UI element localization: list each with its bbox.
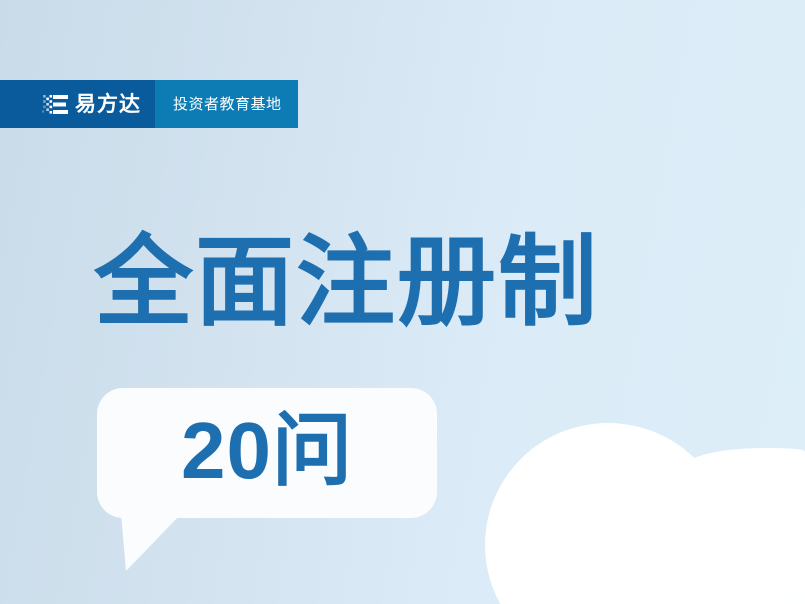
brand-header-bar: 易方达 投资者教育基地 [0,80,298,128]
poster-canvas: 易方达 投资者教育基地 全面注册制 20问 [0,0,805,604]
page-title: 全面注册制 [94,228,599,337]
speech-bubble-body: 20问 [97,388,437,518]
speech-bubble-tail [119,514,183,574]
speech-bubble: 20问 [97,388,437,518]
parachute-icon [653,448,805,604]
speech-bubble-label: 20问 [181,411,353,491]
parachute-icon [485,423,731,604]
brand-subtitle-block[interactable]: 投资者教育基地 [155,80,298,128]
yifangda-pixel-e-icon [42,94,68,115]
brand-logo-block[interactable]: 易方达 [0,80,155,128]
brand-subtitle: 投资者教育基地 [173,97,282,112]
brand-name: 易方达 [75,94,141,115]
